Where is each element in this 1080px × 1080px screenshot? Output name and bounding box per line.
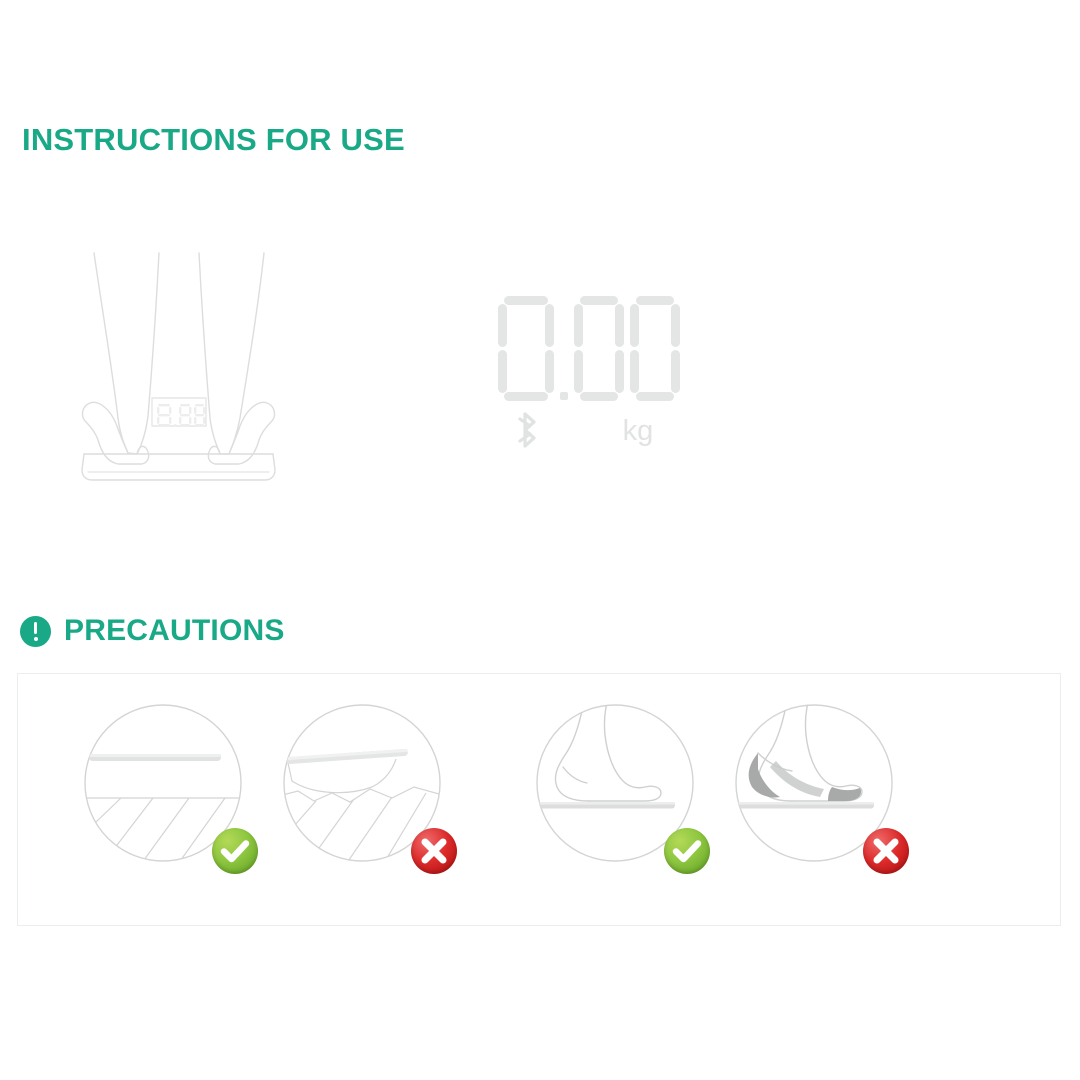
feet-standing-on-scale-figure xyxy=(25,230,385,480)
precautions-heading: PRECAUTIONS xyxy=(20,614,285,648)
cross-badge-icon xyxy=(411,828,457,874)
cross-badge-icon xyxy=(863,828,909,874)
display-unit-label: kg xyxy=(623,415,654,447)
check-badge-icon xyxy=(212,828,258,874)
read-data-figure: kg xyxy=(420,230,760,480)
instruction-steps: Light feet standing on the scale xyxy=(0,230,1080,540)
precautions-panel xyxy=(17,673,1061,926)
precaution-item-hard-flat-floor xyxy=(81,701,246,866)
bluetooth-icon xyxy=(520,414,534,446)
precaution-item-soft-uneven-floor xyxy=(280,701,445,866)
instructions-section-title: INSTRUCTIONS FOR USE xyxy=(22,122,405,158)
precaution-item-list xyxy=(18,674,1060,925)
instruction-step-read-data: kg Read data xyxy=(420,230,760,540)
feet-standing-on-scale-icon xyxy=(80,248,330,488)
precaution-item-socks-on-feet xyxy=(732,701,897,866)
exclamation-circle-icon xyxy=(20,616,51,647)
precautions-section-title: PRECAUTIONS xyxy=(64,614,285,648)
seven-segment-display-icon: kg xyxy=(490,288,690,448)
precaution-item-bare-feet xyxy=(533,701,698,866)
scale-display-value xyxy=(157,404,205,427)
check-badge-icon xyxy=(664,828,710,874)
instruction-step-light-feet: Light feet standing on the scale xyxy=(25,230,385,540)
